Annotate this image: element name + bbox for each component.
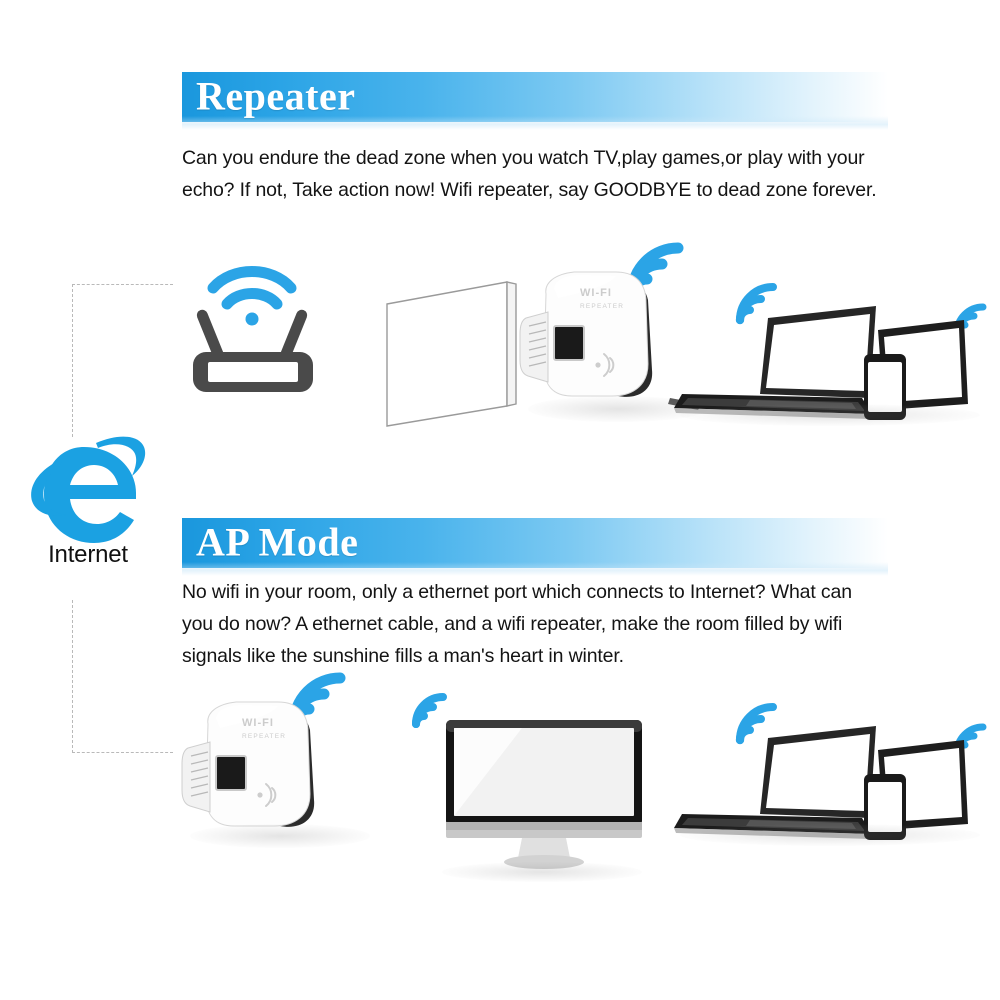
section-body-repeater: Can you endure the dead zone when you wa… [182,142,882,206]
wall-barrier [383,278,525,428]
repeater-model-text: REPEATER [242,733,286,740]
desktop-monitor [404,694,650,874]
internet-explorer-e-icon [22,425,154,545]
wifi-fan-icon [213,272,291,326]
laptop-device [674,726,876,839]
device-group-repeater-row [672,282,990,428]
repeater-model-text: REPEATER [580,303,624,310]
section-body-ap-mode: No wifi in your room, only a ethernet po… [182,576,882,672]
internet-node: Internet [8,425,168,569]
internet-label: Internet [8,541,168,569]
wifi-corner-icon-laptop [736,707,773,744]
section-title-repeater: Repeater [196,73,355,120]
repeater-brand-text: WI-FI [580,287,612,299]
phone-device [864,774,906,840]
wifi-corner-icon-monitor [412,697,443,728]
device-group-ap-row [672,702,990,848]
connector-line-to-ap-mode [72,600,173,753]
section-header-repeater: Repeater [182,72,888,122]
repeater-body: WI-FI REPEATER [182,702,314,827]
wifi-repeater-plug-ap-row: WI-FI REPEATER [182,672,382,852]
section-header-ap-mode: AP Mode [182,518,888,568]
phone-device [864,354,906,420]
monitor-body [446,720,642,869]
laptop-device [674,306,876,419]
repeater-brand-text: WI-FI [242,717,274,729]
connector-line-to-repeater [72,284,173,437]
router-device [188,246,358,406]
section-title-ap-mode: AP Mode [196,519,358,566]
infographic-page: Repeater Can you endure the dead zone wh… [0,0,1000,1000]
wifi-corner-icon-laptop [736,287,773,324]
